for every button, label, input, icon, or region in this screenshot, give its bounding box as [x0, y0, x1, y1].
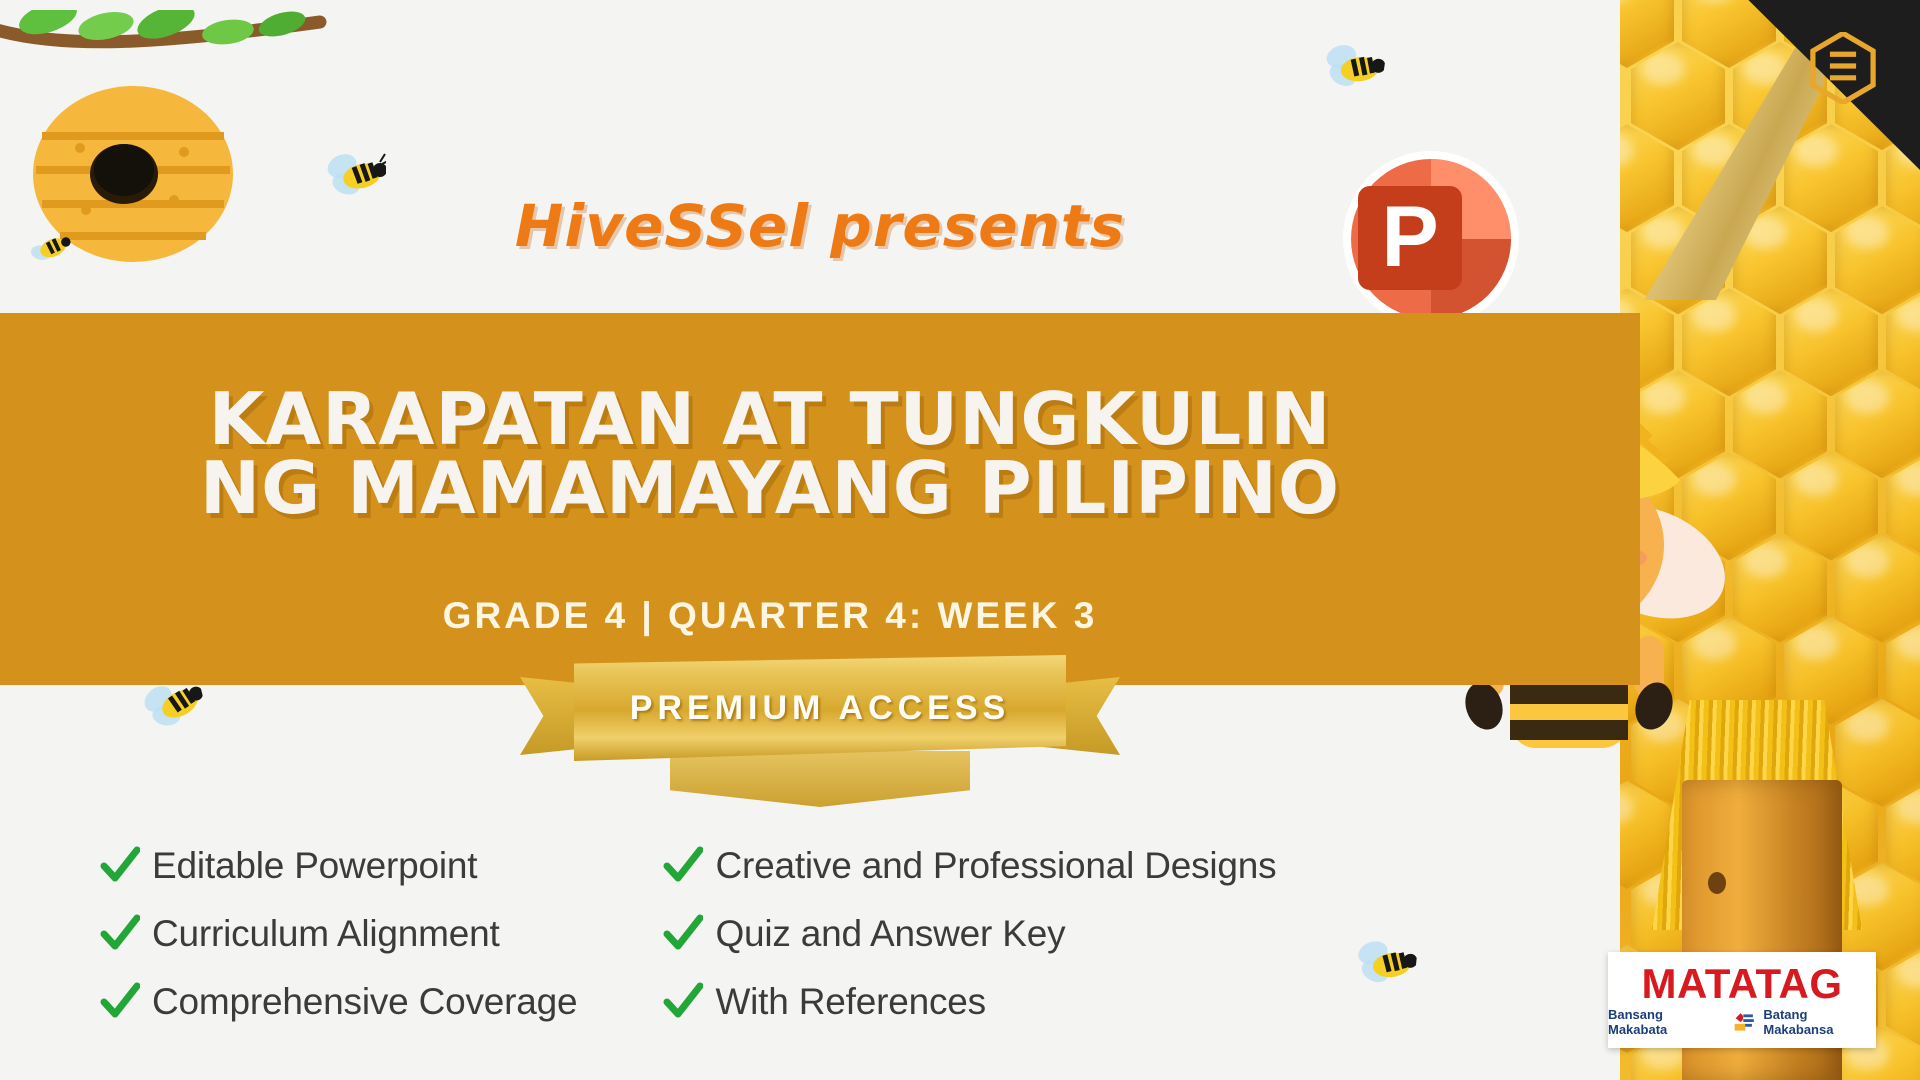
- green-check-icon: [100, 914, 140, 954]
- green-check-icon: [663, 846, 703, 886]
- list-item: Editable Powerpoint: [100, 845, 577, 887]
- premium-access-ribbon: PREMIUM ACCESS: [520, 655, 1120, 790]
- title-line-1: KARAPATAN AT TUNGKULIN: [0, 385, 1540, 454]
- feature-column-left: Editable Powerpoint Curriculum Alignment…: [100, 845, 577, 1023]
- matatag-tagline-left: Bansang Makabata: [1608, 1007, 1721, 1037]
- list-item: Comprehensive Coverage: [100, 981, 577, 1023]
- tree-branch-icon: [0, 10, 350, 80]
- feature-label: Editable Powerpoint: [152, 845, 477, 887]
- bee-icon: [1315, 38, 1387, 97]
- handshake-heart-icon: [1728, 1010, 1757, 1034]
- feature-column-right: Creative and Professional Designs Quiz a…: [663, 845, 1276, 1023]
- ribbon-label: PREMIUM ACCESS: [574, 655, 1066, 761]
- list-item: Curriculum Alignment: [100, 913, 577, 955]
- feature-list: Editable Powerpoint Curriculum Alignment…: [100, 845, 1500, 1023]
- feature-label: Quiz and Answer Key: [715, 913, 1065, 955]
- hexagon-logo-icon[interactable]: [1810, 32, 1876, 104]
- feature-label: With References: [715, 981, 986, 1023]
- feature-label: Curriculum Alignment: [152, 913, 500, 955]
- matatag-tagline: Bansang Makabata Batang Makabansa: [1608, 1007, 1876, 1037]
- list-item: With References: [663, 981, 1276, 1023]
- green-check-icon: [663, 982, 703, 1022]
- matatag-wordmark: MATATAG: [1642, 963, 1843, 1005]
- feature-label: Comprehensive Coverage: [152, 981, 577, 1023]
- list-item: Quiz and Answer Key: [663, 913, 1276, 955]
- green-check-icon: [663, 914, 703, 954]
- green-check-icon: [100, 846, 140, 886]
- green-check-icon: [100, 982, 140, 1022]
- presents-heading: HiveSSel presents: [0, 192, 1640, 260]
- feature-label: Creative and Professional Designs: [715, 845, 1276, 887]
- matatag-tagline-right: Batang Makabansa: [1763, 1007, 1876, 1037]
- list-item: Creative and Professional Designs: [663, 845, 1276, 887]
- hero-title: KARAPATAN AT TUNGKULIN NG MAMAMAYANG PIL…: [0, 385, 1540, 523]
- matatag-logo: MATATAG Bansang Makabata Batang Makabans…: [1608, 952, 1876, 1048]
- title-line-2: NG MAMAMAYANG PILIPINO: [0, 454, 1540, 523]
- hero-subtitle: GRADE 4 | QUARTER 4: WEEK 3: [0, 595, 1540, 637]
- poster-canvas: P HiveSSel presents KARAPATAN AT TUNGKUL…: [0, 0, 1920, 1080]
